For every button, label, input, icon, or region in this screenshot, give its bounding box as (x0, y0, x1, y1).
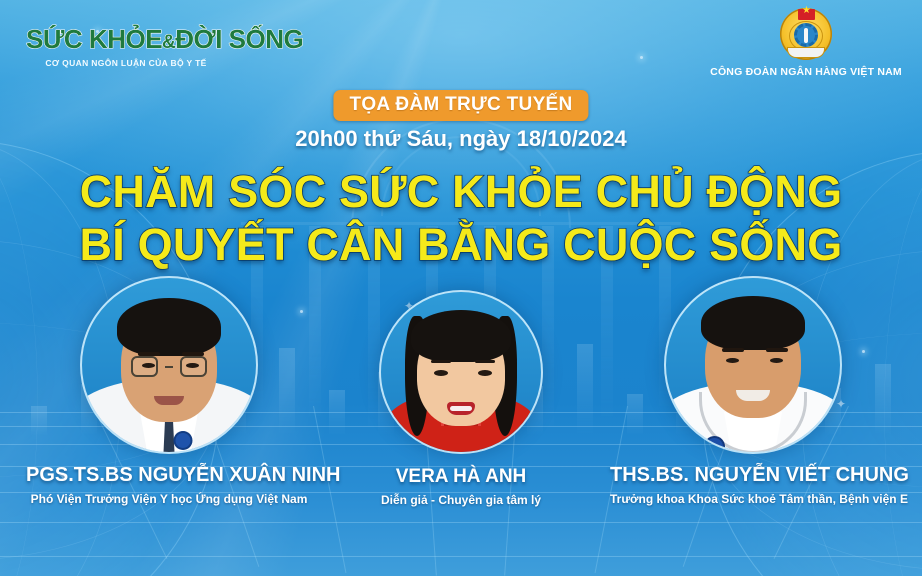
organization-logo: CÔNG ĐOÀN NGÂN HÀNG VIỆT NAM (706, 8, 906, 78)
avatar (379, 290, 543, 454)
speaker-card-2: VERA HÀ ANH Diễn giả - Chuyên gia tâm lý (346, 276, 576, 507)
speaker-card-1: PGS.TS.BS NGUYỄN XUÂN NINH Phó Viện Trưở… (26, 276, 312, 506)
event-type-badge: TỌA ĐÀM TRỰC TUYẾN (333, 90, 588, 121)
speaker-role: Diễn giả - Chuyên gia tâm lý (346, 493, 576, 507)
speakers-row: PGS.TS.BS NGUYỄN XUÂN NINH Phó Viện Trưở… (0, 276, 922, 507)
publication-logo: SỨC KHỎE&ĐỜI SỐNG CƠ QUAN NGÔN LUẬN CỦA … (26, 24, 226, 68)
trade-union-emblem-icon (780, 8, 832, 60)
speaker-name: VERA HÀ ANH (346, 466, 576, 488)
speaker-role: Trưởng khoa Khoa Sức khoẻ Tâm thần, Bệnh… (610, 492, 896, 506)
headline-line-2: BÍ QUYẾT CÂN BẰNG CUỘC SỐNG (80, 219, 843, 271)
avatar (664, 276, 842, 454)
avatar (80, 276, 258, 454)
publication-tagline: CƠ QUAN NGÔN LUẬN CỦA BỘ Y TẾ (26, 58, 226, 68)
headline-line-1: CHĂM SÓC SỨC KHỎE CHỦ ĐỘNG (80, 166, 843, 218)
organization-name: CÔNG ĐOÀN NGÂN HÀNG VIỆT NAM (706, 66, 906, 78)
event-type-label: TỌA ĐÀM TRỰC TUYẾN (349, 94, 572, 115)
speaker-card-3: THS.BS. NGUYỄN VIẾT CHUNG Trưởng khoa Kh… (610, 276, 896, 506)
brand-part-1: SỨC KHỎE (26, 24, 162, 54)
event-datetime: 20h00 thứ Sáu, ngày 18/10/2024 (295, 126, 626, 152)
event-poster: ✦ ✦ ✦ ✦ SỨC KHỎE&ĐỜI SỐNG CƠ QUAN NGÔN L… (0, 0, 922, 576)
ampersand-icon: & (162, 32, 175, 53)
speaker-role: Phó Viện Trưởng Viện Y học Ứng dụng Việt… (26, 492, 312, 506)
speaker-name: THS.BS. NGUYỄN VIẾT CHUNG (610, 464, 896, 487)
speaker-name: PGS.TS.BS NGUYỄN XUÂN NINH (26, 464, 312, 487)
publication-brand-name: SỨC KHỎE&ĐỜI SỐNG (26, 24, 226, 55)
brand-part-2: ĐỜI SỐNG (175, 24, 303, 54)
